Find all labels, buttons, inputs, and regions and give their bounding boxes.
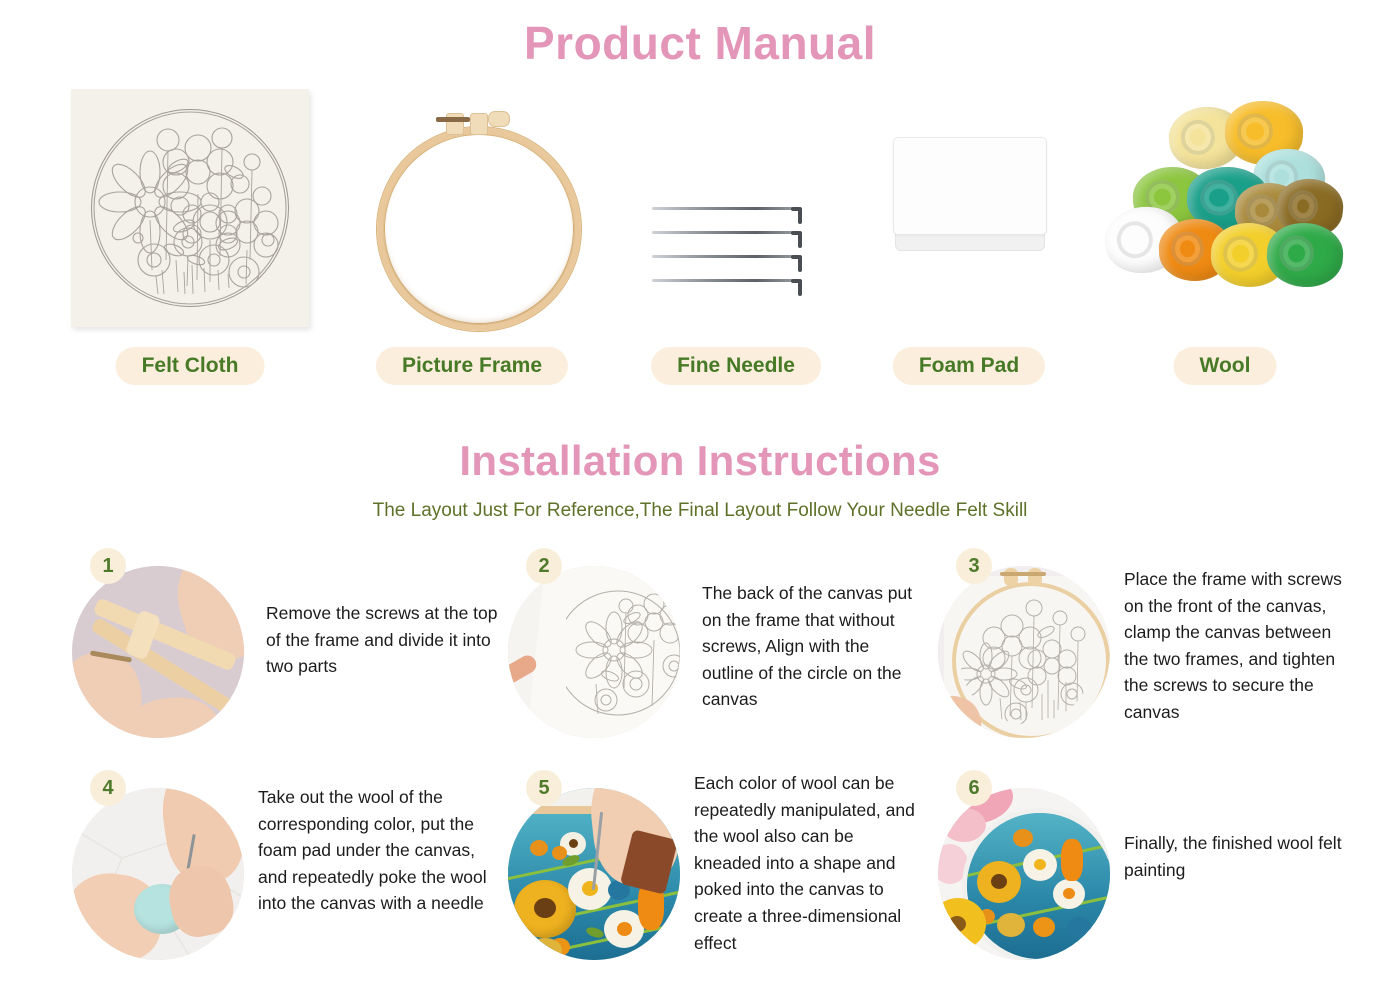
step-number-badge: 3: [956, 548, 992, 584]
step-5-photo: [508, 788, 680, 960]
step-4-photo: [72, 788, 244, 960]
part-label-foam-pad: Foam Pad: [893, 347, 1045, 385]
step-3-photo: [938, 566, 1110, 738]
step-4-text: Take out the wool of the corresponding c…: [258, 784, 492, 917]
part-label-picture-frame: Picture Frame: [376, 347, 568, 385]
part-fine-needle: Fine Needle: [645, 85, 827, 385]
part-label-felt-cloth: Felt Cloth: [116, 347, 265, 385]
step-6-photo: [938, 788, 1110, 960]
part-wool: Wool: [1100, 85, 1350, 385]
part-label-wool: Wool: [1174, 347, 1277, 385]
step-2-text: The back of the canvas put on the frame …: [702, 580, 924, 713]
part-label-fine-needle: Fine Needle: [651, 347, 821, 385]
step-number-badge: 4: [90, 770, 126, 806]
step-2-photo: [508, 566, 680, 738]
wool-image: [1100, 85, 1350, 340]
page-title: Product Manual: [0, 16, 1400, 70]
installation-title: Installation Instructions: [0, 437, 1400, 485]
step-number-badge: 6: [956, 770, 992, 806]
part-picture-frame: Picture Frame: [358, 85, 586, 385]
step-6-text: Finally, the finished wool felt painting: [1124, 830, 1348, 883]
step-3-text: Place the frame with screws on the front…: [1124, 566, 1354, 726]
installation-steps: 1 Remove the screws at the top of the fr…: [0, 548, 1400, 968]
fine-needle-image: [645, 85, 827, 340]
step-1-text: Remove the screws at the top of the fram…: [266, 600, 500, 680]
picture-frame-image: [358, 85, 586, 340]
flower-outline-sketch-icon: [91, 109, 289, 307]
hoop-hardware-icon: [430, 105, 516, 135]
step-number-badge: 1: [90, 548, 126, 584]
foam-pad-image: [878, 85, 1060, 340]
step-number-badge: 2: [526, 548, 562, 584]
part-foam-pad: Foam Pad: [878, 85, 1060, 385]
step-number-badge: 5: [526, 770, 562, 806]
step-5-text: Each color of wool can be repeatedly man…: [694, 770, 920, 956]
part-felt-cloth: Felt Cloth: [50, 85, 330, 385]
wool-roll: [1265, 220, 1345, 289]
installation-subtitle: The Layout Just For Reference,The Final …: [0, 500, 1400, 522]
felt-cloth-image: [50, 85, 330, 340]
parts-gallery: Felt Cloth Picture Frame: [0, 85, 1400, 385]
step-1-photo: [72, 566, 244, 738]
